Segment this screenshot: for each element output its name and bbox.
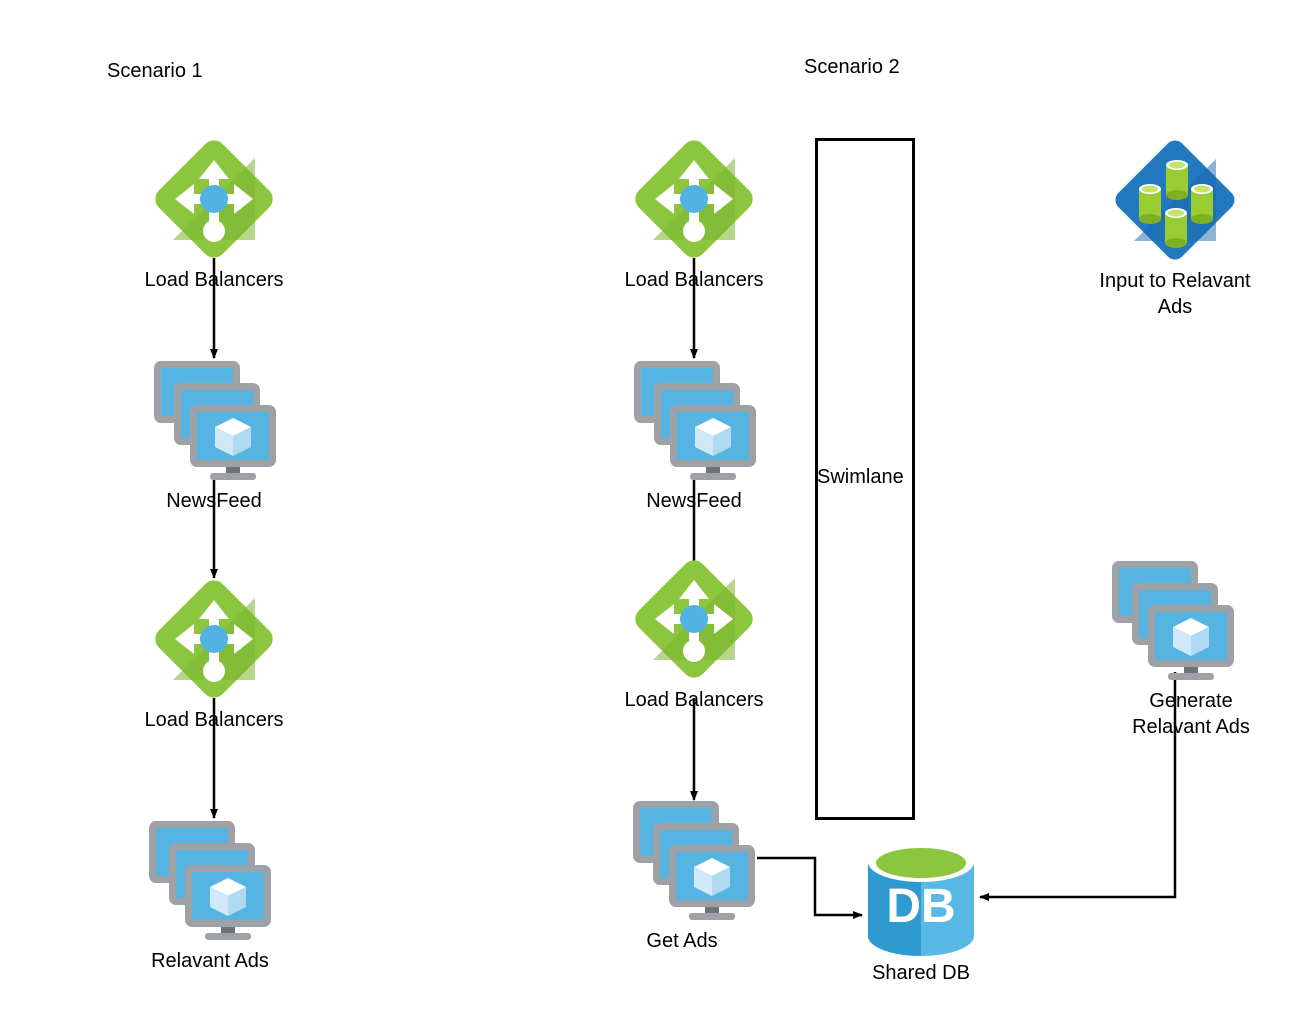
database-badge-text: DB [886, 880, 955, 933]
database-icon: DB [862, 840, 980, 958]
vm-stack-icon [147, 817, 273, 943]
diagram-canvas: Scenario 1 Scenario 2 Swimlane Load Bala… [0, 0, 1305, 1030]
node-s2-newsfeed[interactable]: NewsFeed [632, 357, 758, 483]
node-s2-load-balancer-2[interactable]: Load Balancers [631, 556, 757, 682]
node-label-s2-input-relavant-ads: Input to Relavant Ads [1077, 268, 1273, 320]
node-s1-load-balancer-1[interactable]: Load Balancers [151, 136, 277, 262]
node-label-s2-newsfeed: NewsFeed [614, 488, 774, 514]
load-balancer-icon [151, 136, 277, 262]
load-balancer-icon [151, 576, 277, 702]
node-label-s2-shared-db: Shared DB [841, 960, 1001, 986]
node-s2-shared-db[interactable]: DB Shared DB [862, 840, 980, 958]
scenario-1-title: Scenario 1 [107, 60, 203, 83]
node-s2-generate-relavant-ads[interactable]: Generate Relavant Ads [1110, 557, 1236, 683]
node-label-s1-relavant-ads: Relavant Ads [130, 948, 290, 974]
node-label-s1-newsfeed: NewsFeed [134, 488, 294, 514]
node-s1-relavant-ads[interactable]: Relavant Ads [147, 817, 273, 943]
node-label-s1-load-balancer-1: Load Balancers [134, 267, 294, 293]
load-balancer-icon [631, 556, 757, 682]
node-label-s2-load-balancer-1: Load Balancers [614, 267, 774, 293]
vm-stack-icon [631, 797, 757, 923]
node-s1-load-balancer-2[interactable]: Load Balancers [151, 576, 277, 702]
vm-stack-icon [152, 357, 278, 483]
node-label-s2-generate-relavant-ads: Generate Relavant Ads [1101, 688, 1281, 740]
vm-stack-icon [632, 357, 758, 483]
swimlane-label: Swimlane [817, 466, 904, 489]
node-label-s1-load-balancer-2: Load Balancers [134, 707, 294, 733]
node-s2-input-relavant-ads[interactable]: Input to Relavant Ads [1112, 137, 1238, 263]
node-s1-newsfeed[interactable]: NewsFeed [152, 357, 278, 483]
node-s2-get-ads[interactable]: Get Ads [631, 797, 757, 923]
load-balancer-icon [631, 136, 757, 262]
node-s2-load-balancer-1[interactable]: Load Balancers [631, 136, 757, 262]
node-label-s2-load-balancer-2: Load Balancers [614, 687, 774, 713]
connector-s2-get-ads-to-shared-db [757, 858, 862, 915]
scenario-2-title: Scenario 2 [804, 56, 900, 79]
storage-diamond-icon [1112, 137, 1238, 263]
vm-stack-icon [1110, 557, 1236, 683]
node-label-s2-get-ads: Get Ads [602, 928, 762, 954]
